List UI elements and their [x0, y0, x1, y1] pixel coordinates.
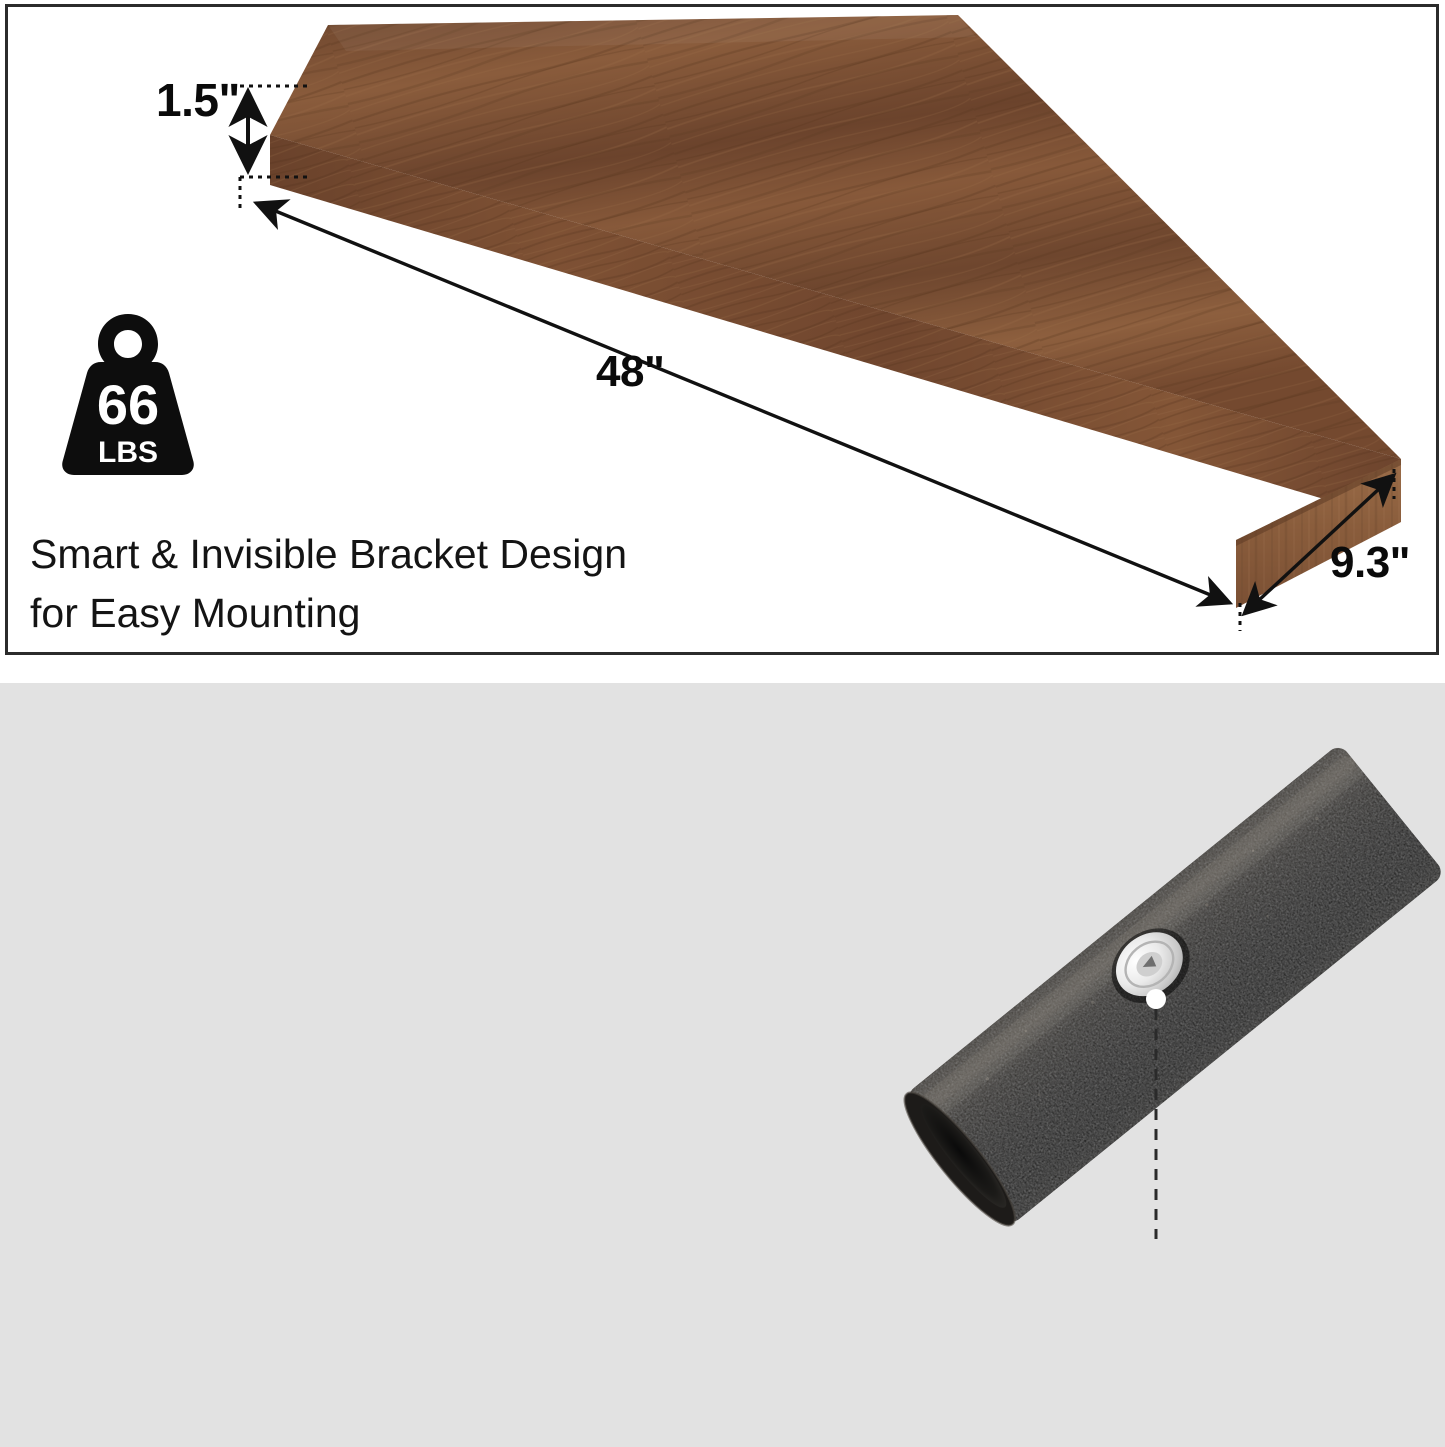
rod-texture-speckles [975, 799, 1354, 1127]
weight-value: 66 [97, 373, 159, 436]
callout-dot-icon [1146, 989, 1166, 1009]
depth-dimension-label: 9.3" [1330, 538, 1410, 588]
weight-capacity-badge: 66 LBS [53, 312, 203, 477]
headline-line-1: Smart & Invisible Bracket Design [30, 525, 930, 584]
weight-unit: LBS [98, 436, 158, 469]
rod-bore [912, 1096, 1015, 1215]
rod-body [891, 743, 1445, 1237]
set-screw [1097, 913, 1205, 1019]
headline: Smart & Invisible Bracket Design for Eas… [30, 525, 930, 643]
product-dimensions-panel: 1.5" 48" 9.3" 66 LBS Smart & Invisible B… [5, 4, 1439, 655]
headline-line-2: for Easy Mounting [30, 584, 930, 643]
rod-end-rim [891, 1081, 1028, 1237]
callout-layer [0, 683, 1445, 1447]
weight-icon: 66 LBS [53, 312, 203, 477]
thickness-dimension-label: 1.5" [156, 73, 240, 127]
length-dimension-label: 48" [596, 347, 664, 397]
features-panel: Ours Others [0, 683, 1445, 1447]
iron-rod-illustration [0, 683, 1445, 1447]
